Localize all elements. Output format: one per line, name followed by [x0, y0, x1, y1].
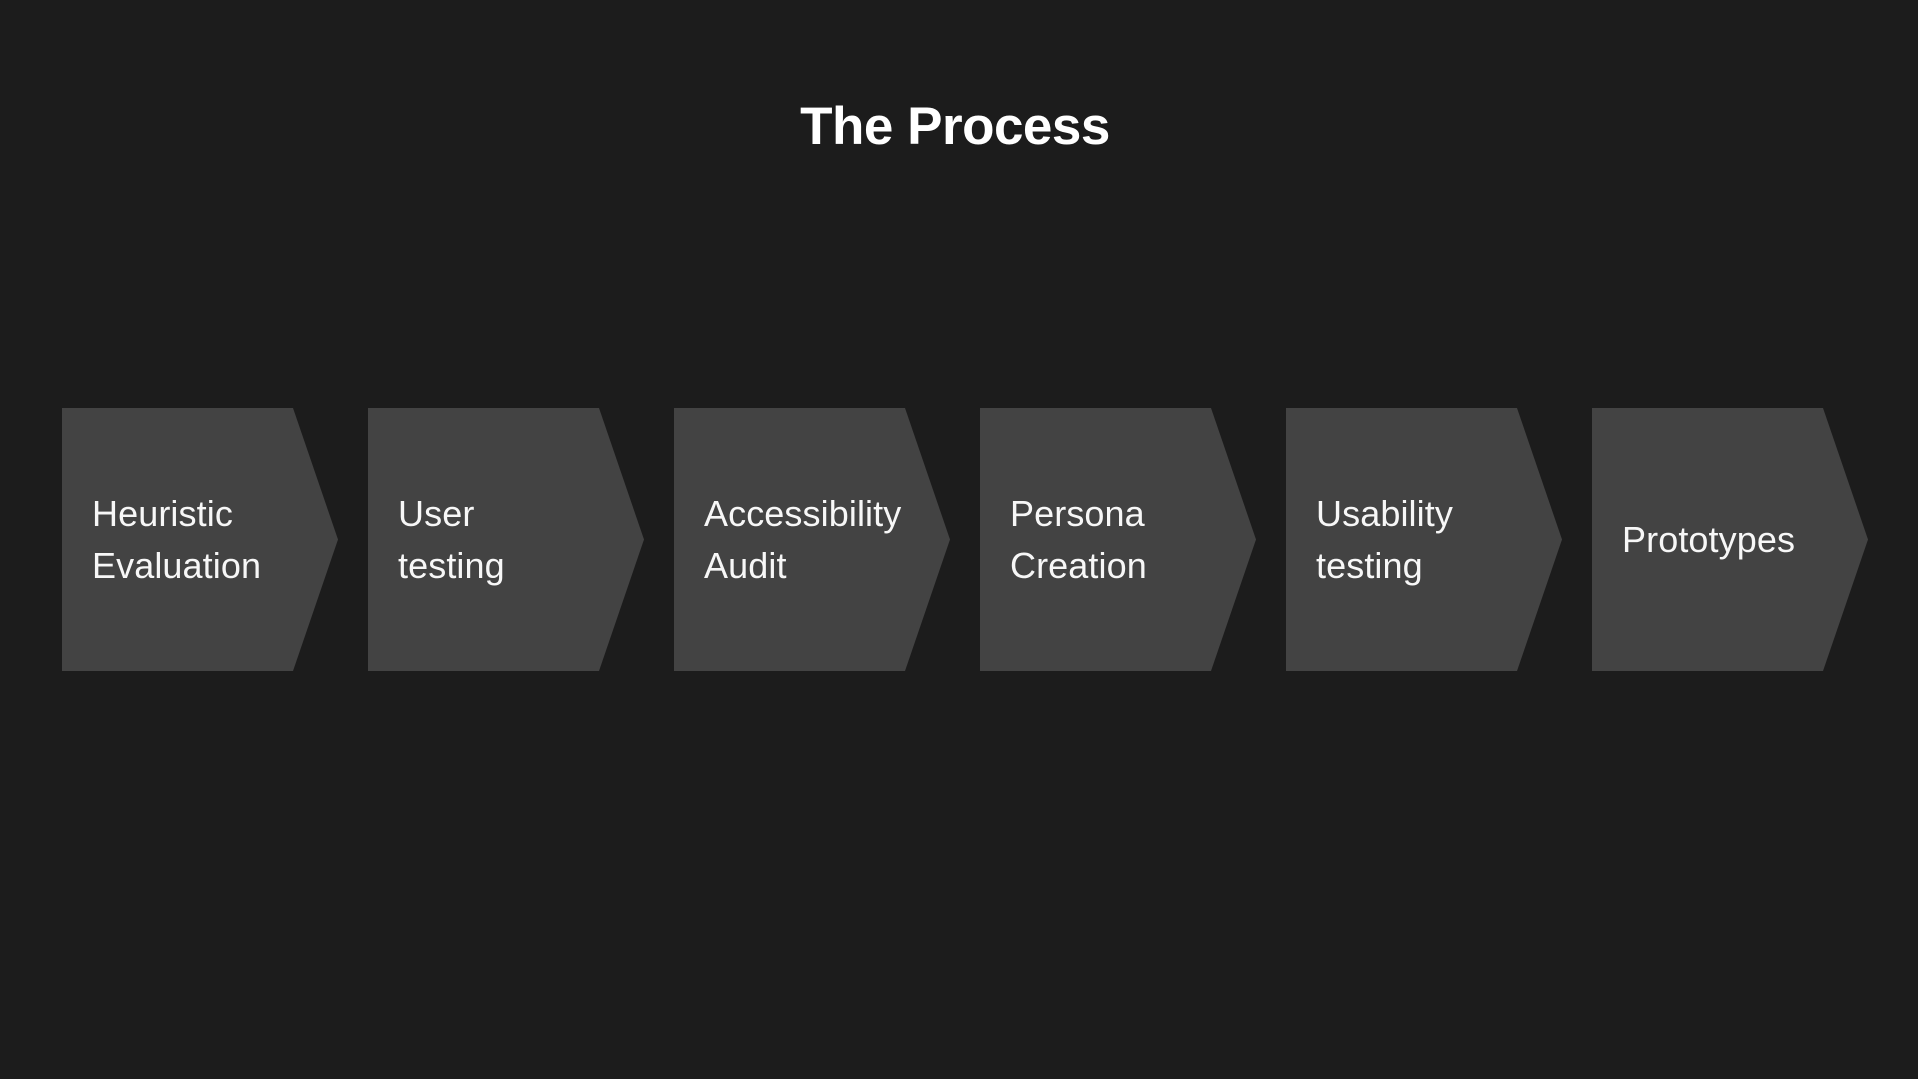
process-step-label-line1: Prototypes	[1622, 514, 1837, 566]
process-step-label-line1: User	[398, 488, 613, 540]
process-step-1[interactable]: Heuristic Evaluation	[62, 408, 338, 671]
process-step-label: Prototypes	[1622, 408, 1837, 671]
process-step-label-line1: Accessibility	[704, 488, 919, 540]
page-title: The Process	[0, 96, 1914, 158]
process-flow-diagram: Heuristic Evaluation User testing Access…	[62, 408, 1862, 671]
process-step-2[interactable]: User testing	[368, 408, 644, 671]
process-step-6[interactable]: Prototypes	[1592, 408, 1868, 671]
slide-canvas: The Process Heuristic Evaluation User te…	[0, 0, 1918, 1079]
process-step-label-line1: Usability	[1316, 488, 1531, 540]
process-step-label-line2: testing	[1316, 540, 1531, 592]
process-step-label: Persona Creation	[1010, 408, 1225, 671]
process-step-label-line2: Evaluation	[92, 540, 307, 592]
process-step-label: Accessibility Audit	[704, 408, 919, 671]
process-step-3[interactable]: Accessibility Audit	[674, 408, 950, 671]
process-step-4[interactable]: Persona Creation	[980, 408, 1256, 671]
process-step-label-line1: Heuristic	[92, 488, 307, 540]
process-step-label: User testing	[398, 408, 613, 671]
process-step-label-line2: Audit	[704, 540, 919, 592]
process-step-label-line1: Persona	[1010, 488, 1225, 540]
process-step-label-line2: testing	[398, 540, 613, 592]
process-step-label-line2: Creation	[1010, 540, 1225, 592]
process-step-label: Heuristic Evaluation	[92, 408, 307, 671]
process-step-label: Usability testing	[1316, 408, 1531, 671]
process-step-5[interactable]: Usability testing	[1286, 408, 1562, 671]
